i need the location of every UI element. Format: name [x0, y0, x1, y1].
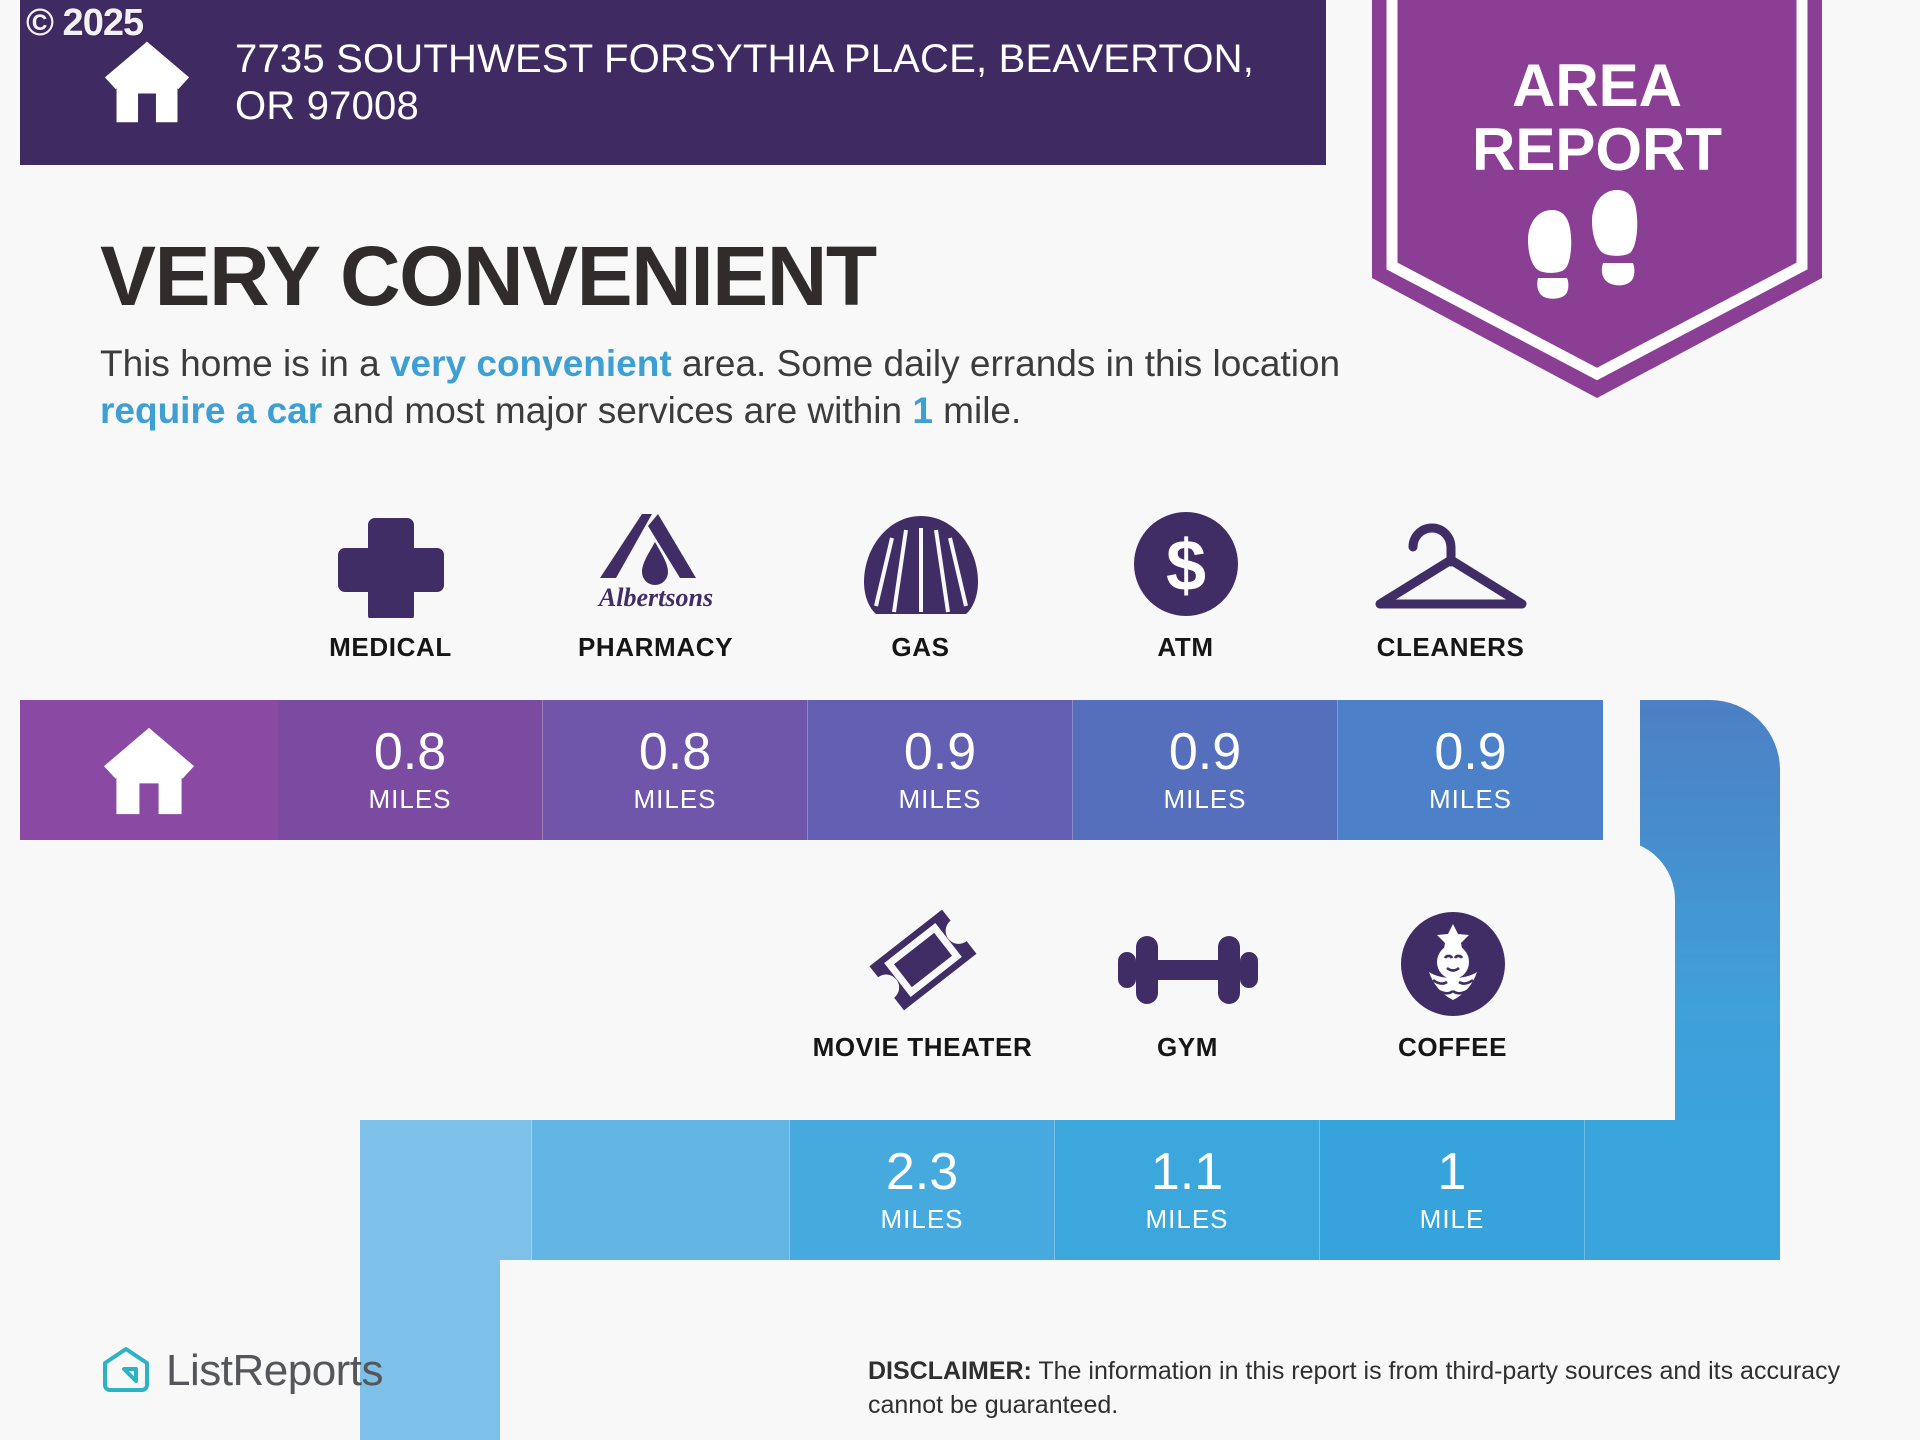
distance-value: 0.8	[374, 726, 446, 778]
pipe-elbow-left-mask	[500, 1260, 760, 1440]
summary-description: This home is in a very convenient area. …	[100, 340, 1350, 435]
disclaimer-label: DISCLAIMER:	[868, 1357, 1032, 1385]
distance-cell-pharmacy: 0.8 MILES	[543, 700, 808, 840]
distance-value: 0.8	[639, 726, 711, 778]
desc-highlight-2: require a car	[100, 390, 322, 431]
amenity-icon-cleaners: CLEANERS	[1318, 500, 1583, 663]
distance-cell-medical: 0.8 MILES	[278, 700, 543, 840]
disclaimer: DISCLAIMER: The information in this repo…	[868, 1355, 1868, 1422]
distance-unit: MILES	[633, 784, 716, 815]
svg-text:$: $	[1165, 526, 1205, 606]
amenity-icon-gym: GYM	[1055, 900, 1320, 1063]
clothes-hanger-icon	[1370, 518, 1532, 618]
distance-cell-cleaners: 0.9 MILES	[1338, 700, 1603, 840]
distance-cell-gym: 1.1 MILES	[1055, 1120, 1320, 1260]
home-icon	[101, 724, 197, 816]
desc-part-4: mile.	[933, 390, 1021, 431]
distance-bar-row-1: 0.8 MILES 0.8 MILES 0.9 MILES 0.9 MILES …	[20, 700, 1780, 840]
pipe-lead-cell-1	[360, 1120, 532, 1260]
distance-unit: MILES	[368, 784, 451, 815]
amenity-icon-row-1: MEDICAL Albertsons PHARMACY	[258, 500, 1583, 663]
area-report-badge: AREA REPORT	[1372, 0, 1822, 398]
distance-bar-row-2: 2.3 MILES 1.1 MILES 1 MILE	[360, 1120, 1780, 1260]
amenity-label: PHARMACY	[578, 632, 733, 663]
dollar-circle-icon: $	[1132, 510, 1240, 618]
listreports-logo-text: ListReports	[166, 1346, 383, 1396]
albertsons-logo-icon: Albertsons	[580, 512, 732, 618]
amenity-label: GAS	[891, 632, 949, 663]
amenity-icon-coffee: COFFEE	[1320, 900, 1585, 1063]
home-marker-cell	[20, 700, 278, 840]
distance-unit: MILES	[898, 784, 981, 815]
amenity-icon-row-2: MOVIE THEATER GYM	[790, 900, 1585, 1063]
distance-value: 1.1	[1151, 1146, 1223, 1198]
property-address: 7735 SOUTHWEST FORSYTHIA PLACE, BEAVERTO…	[235, 36, 1315, 130]
movie-ticket-icon	[865, 902, 981, 1018]
distance-unit: MILES	[880, 1204, 963, 1235]
distance-unit: MILE	[1420, 1204, 1485, 1235]
distance-value: 0.9	[1169, 726, 1241, 778]
amenity-icon-atm: $ ATM	[1053, 500, 1318, 663]
desc-part-1: This home is in a	[100, 343, 390, 384]
badge-line-1: AREA	[1512, 52, 1682, 119]
amenity-label: CLEANERS	[1377, 632, 1525, 663]
svg-text:Albertsons: Albertsons	[596, 583, 712, 612]
amenity-label: MOVIE THEATER	[813, 1032, 1033, 1063]
amenity-label: COFFEE	[1398, 1032, 1507, 1063]
listreports-logo[interactable]: ListReports	[100, 1345, 383, 1397]
header-bar: 7735 SOUTHWEST FORSYTHIA PLACE, BEAVERTO…	[20, 0, 1326, 165]
amenity-icon-movie-theater: MOVIE THEATER	[790, 900, 1055, 1063]
amenity-icon-gas: GAS	[788, 500, 1053, 663]
distance-value: 0.9	[1434, 726, 1506, 778]
home-icon	[102, 38, 192, 124]
badge-line-2: REPORT	[1472, 116, 1722, 183]
distance-cell-coffee: 1 MILE	[1320, 1120, 1585, 1260]
amenity-label: GYM	[1157, 1032, 1218, 1063]
distance-unit: MILES	[1163, 784, 1246, 815]
page-title: VERY CONVENIENT	[100, 228, 876, 325]
pipe-tail-cell	[1585, 1120, 1780, 1260]
distance-cell-atm: 0.9 MILES	[1073, 700, 1338, 840]
pipe-lead-cell-2	[532, 1120, 790, 1260]
dumbbell-icon	[1112, 922, 1264, 1018]
amenity-label: MEDICAL	[329, 632, 452, 663]
distance-value: 1	[1438, 1146, 1467, 1198]
distance-cell-movie-theater: 2.3 MILES	[790, 1120, 1055, 1260]
shell-shell-icon	[862, 514, 980, 618]
distance-unit: MILES	[1145, 1204, 1228, 1235]
amenity-label: ATM	[1157, 632, 1213, 663]
distance-unit: MILES	[1429, 784, 1512, 815]
desc-highlight-1: very convenient	[390, 343, 672, 384]
desc-part-3: and most major services are within	[322, 390, 912, 431]
copyright-label: © 2025	[26, 2, 143, 45]
distance-cell-gas: 0.9 MILES	[808, 700, 1073, 840]
amenity-icon-pharmacy: Albertsons PHARMACY	[523, 500, 788, 663]
area-report-page: 7735 SOUTHWEST FORSYTHIA PLACE, BEAVERTO…	[0, 0, 1920, 1440]
distance-value: 2.3	[886, 1146, 958, 1198]
starbucks-logo-icon	[1399, 910, 1507, 1018]
listreports-house-icon	[100, 1345, 152, 1397]
desc-highlight-3: 1	[912, 390, 933, 431]
medical-cross-icon	[337, 514, 445, 618]
desc-part-2: area. Some daily errands in this locatio…	[672, 343, 1340, 384]
amenity-icon-medical: MEDICAL	[258, 500, 523, 663]
distance-value: 0.9	[904, 726, 976, 778]
